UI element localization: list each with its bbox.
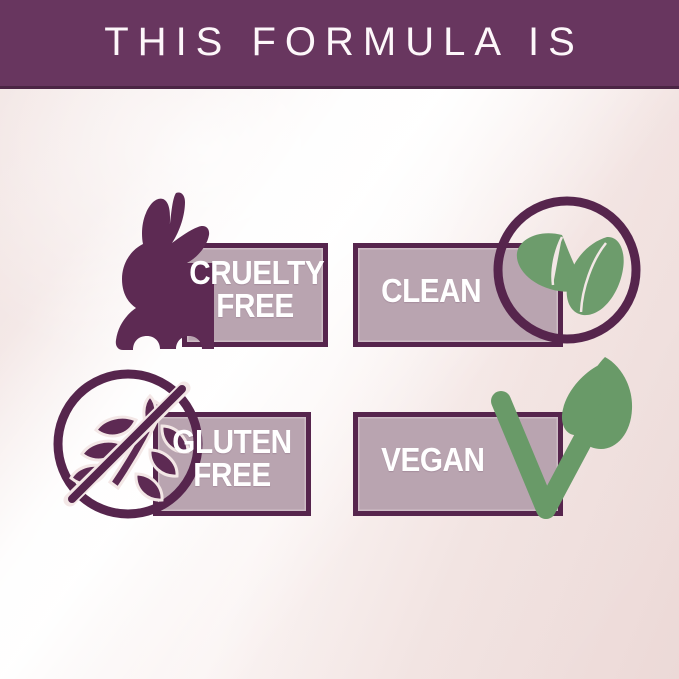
badge-gluten-free[interactable]: GLUTEN FREE [50,364,340,529]
badge-clean[interactable]: CLEAN [353,189,643,359]
clean-label: CLEAN [369,275,504,308]
header-banner: THIS FORMULA IS [0,0,679,89]
badge-vegan[interactable]: VEGAN [353,359,653,539]
claims-graphic: THIS FORMULA IS CRUELTY FREE [0,0,679,679]
gluten-free-label: GLUTEN FREE [161,426,303,491]
page-title: THIS FORMULA IS [95,22,584,62]
cruelty-free-label: CRUELTY FREE [189,257,320,322]
badge-cruelty-free[interactable]: CRUELTY FREE [110,189,340,359]
vegan-label: VEGAN [369,444,504,477]
leaves-circle-icon [493,195,641,345]
leaf-checkmark-icon [483,351,653,531]
badge-grid: CRUELTY FREE CLEAN [0,89,679,679]
